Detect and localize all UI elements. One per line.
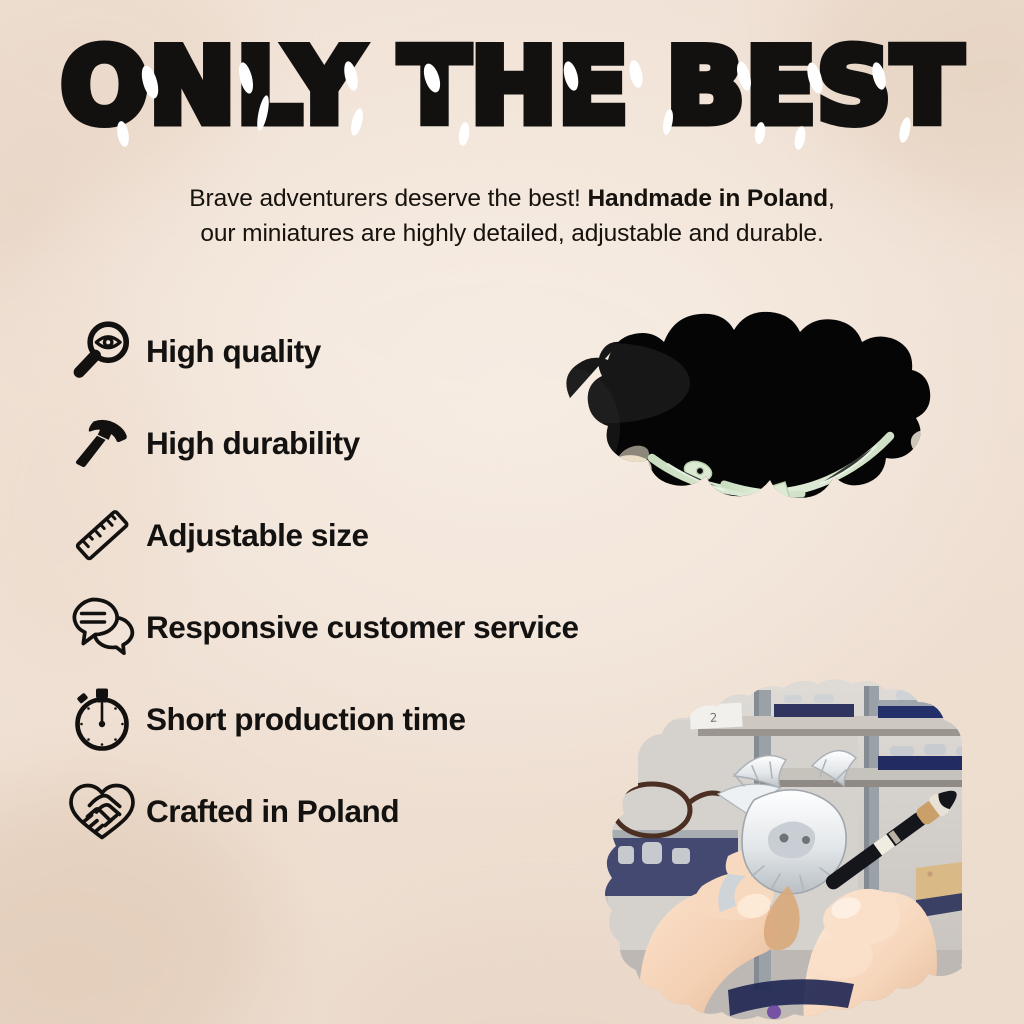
- feature-label: Short production time: [146, 701, 466, 738]
- page-title-text: ONLY THE BEST: [61, 27, 964, 147]
- magnifier-eye-icon: [62, 315, 142, 387]
- page-title: ONLY THE BEST: [0, 36, 1024, 139]
- workshop-photo: 2: [578, 660, 1024, 1024]
- feature-label: High durability: [146, 425, 360, 462]
- feature-label: Crafted in Poland: [146, 793, 399, 830]
- feature-label: Responsive customer service: [146, 609, 579, 646]
- ruler-icon: [62, 499, 142, 571]
- speech-bubbles-icon: [62, 591, 142, 663]
- durability-photo: [500, 278, 980, 608]
- promotional-poster: ONLY THE BEST: [0, 0, 1024, 1024]
- subtitle-bold: Handmade in Poland: [587, 185, 828, 212]
- stopwatch-icon: [62, 683, 142, 755]
- feature-label: Adjustable size: [146, 517, 369, 554]
- subtitle-line-1: Brave adventurers deserve the best! Hand…: [0, 182, 1024, 217]
- heart-handshake-icon: [62, 775, 142, 847]
- feature-label: High quality: [146, 333, 321, 370]
- subtitle-prefix: Brave adventurers deserve the best!: [189, 185, 587, 212]
- hammer-icon: [62, 407, 142, 479]
- subtitle-suffix: ,: [828, 185, 835, 212]
- svg-text:2: 2: [709, 711, 717, 725]
- subtitle: Brave adventurers deserve the best! Hand…: [0, 182, 1024, 252]
- subtitle-line-2: our miniatures are highly detailed, adju…: [0, 217, 1024, 252]
